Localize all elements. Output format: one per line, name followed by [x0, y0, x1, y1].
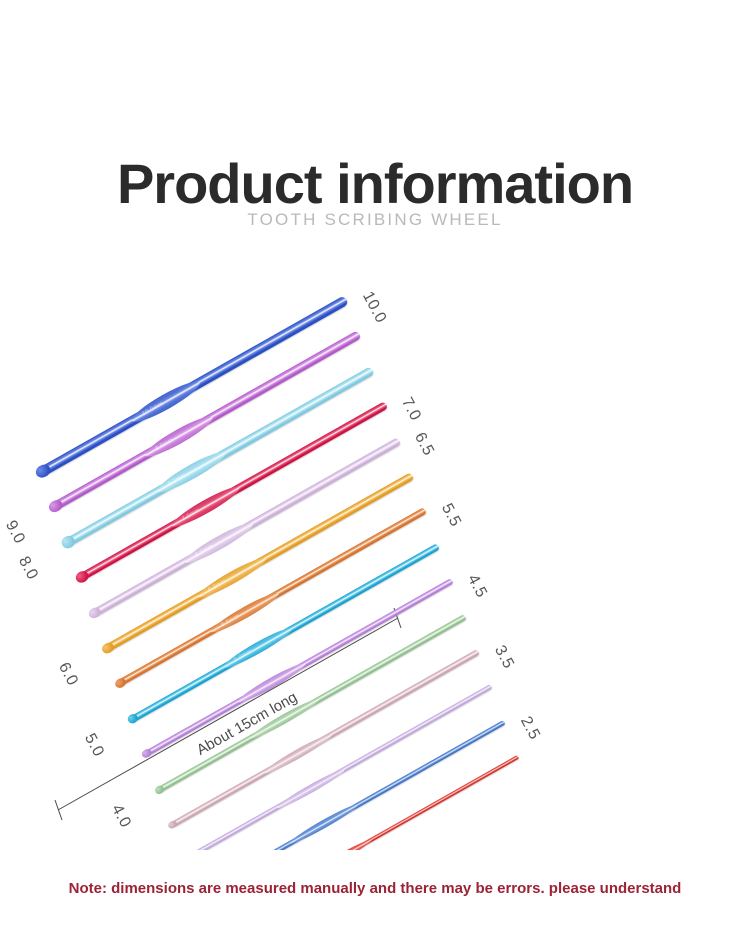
hook-size-label-5-5: 5.5	[437, 501, 464, 530]
hook-size-label-4-5: 4.5	[463, 572, 490, 601]
hook-grip	[262, 731, 334, 777]
page-subtitle: TOOTH SCRIBING WHEEL	[0, 210, 750, 230]
hook-size-label-6-5: 6.5	[410, 430, 437, 459]
hook-size-label-5-0: 5.0	[80, 731, 107, 760]
hook-grip	[155, 447, 229, 497]
crochet-hook	[157, 614, 466, 792]
product-photo: 10.0mm9.0mm8.0mm7.0mm6.5mm6.0mm5.5mm5.0m…	[0, 250, 750, 850]
hook-grip	[195, 553, 268, 602]
disclaimer-note: Note: dimensions are measured manually a…	[0, 880, 750, 897]
hook-grip	[222, 624, 295, 671]
hook-size-label-3-5: 3.5	[490, 643, 517, 672]
hook-grip	[275, 766, 346, 811]
hook-size-label-6-0: 6.0	[54, 660, 81, 689]
hook-size-label-9-0: 9.0	[1, 518, 28, 547]
hook-grip	[142, 411, 217, 462]
hook-grip	[302, 837, 373, 850]
dimension-line	[0, 250, 750, 850]
hook-size-label-2-5: 2.5	[516, 713, 543, 742]
product-information-page: Product information TOOTH SCRIBING WHEEL…	[0, 0, 750, 941]
hook-size-label-7-0: 7.0	[397, 395, 424, 424]
hook-size-label-8-0: 8.0	[14, 554, 41, 583]
hook-grip	[128, 376, 203, 427]
hook-size-label-4-0: 4.0	[107, 801, 134, 830]
page-title: Product information	[0, 156, 750, 212]
hook-grip	[288, 802, 359, 847]
hook-grip	[208, 589, 281, 637]
hook-grip	[182, 518, 256, 567]
hook-size-label-10-0: 10.0	[358, 289, 389, 327]
hook-grip	[168, 482, 242, 532]
